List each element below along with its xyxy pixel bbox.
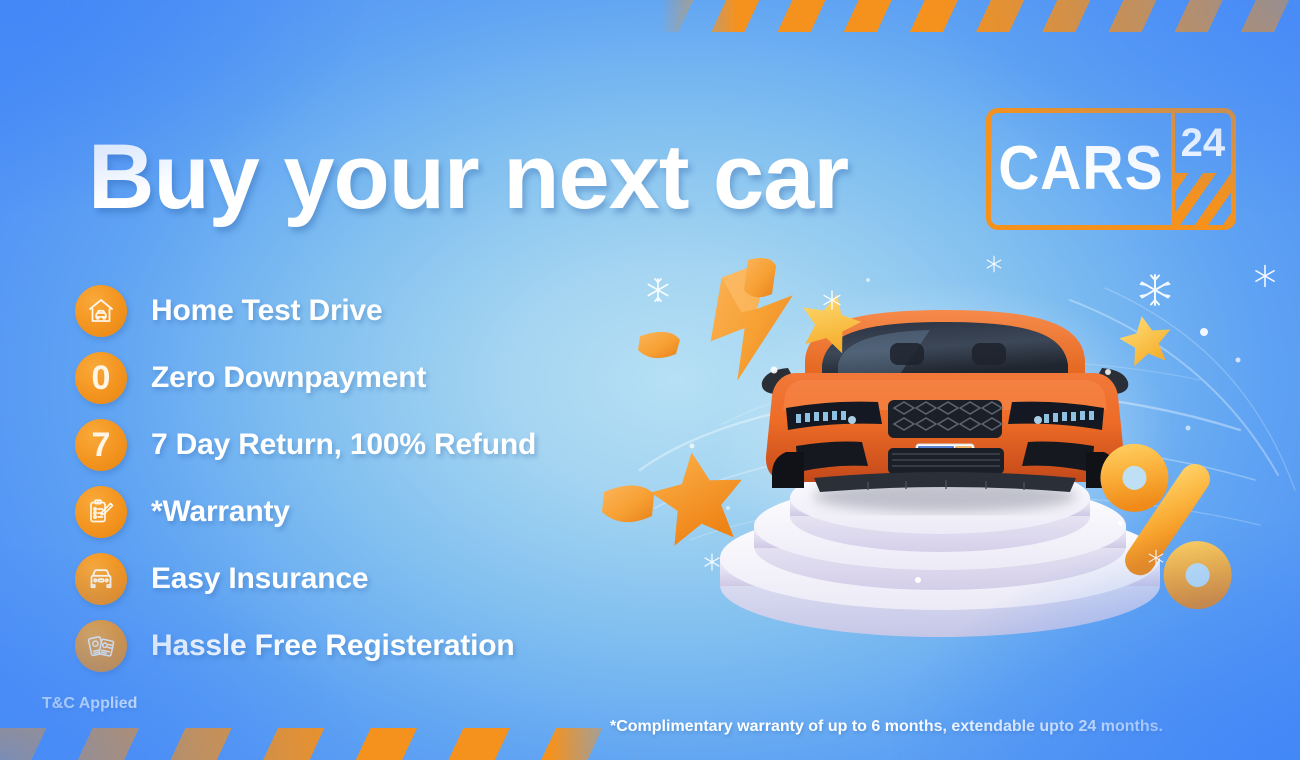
logo-sub-cell: 24 [1175,113,1231,225]
logo-stripes-icon [1175,173,1231,225]
page-title: Buy your next car [88,131,848,223]
logo-main-cell: CARS [991,113,1175,225]
terms-text: T&C Applied [42,695,137,713]
feature-label: Easy Insurance [151,562,368,596]
artwork-svg: CARS 24 [600,240,1300,670]
feature-label: 7 Day Return, 100% Refund [151,428,536,462]
feature-item-easy-insurance: Easy Insurance [75,545,536,612]
feature-label: *Warranty [151,495,290,529]
feature-list: Home Test Drive 0 Zero Downpayment 7 7 D… [75,277,536,679]
car-front-icon [75,553,127,605]
house-car-icon [75,285,127,337]
logo-wordmark: CARS [998,138,1163,200]
seven-icon: 7 [75,419,127,471]
feature-item-seven-day-return: 7 7 Day Return, 100% Refund [75,411,536,478]
hazard-stripes-top [660,0,1300,32]
feature-item-warranty: *Warranty [75,478,536,545]
cars24-logo: CARS 24 [986,108,1236,230]
feature-label: Hassle Free Registeration [151,629,514,663]
hazard-stripes-bottom [0,728,640,760]
feature-item-home-test-drive: Home Test Drive [75,277,536,344]
clipboard-pen-icon [75,486,127,538]
feature-label: Home Test Drive [151,294,383,328]
disclaimer-text: *Complimentary warranty of up to 6 month… [610,718,1163,736]
advertisement-banner: CARS 24 [0,0,1300,760]
feature-label: Zero Downpayment [151,361,426,395]
feature-item-zero-downpayment: 0 Zero Downpayment [75,344,536,411]
zero-icon: 0 [75,352,127,404]
hero-artwork: CARS 24 [600,240,1300,670]
feature-item-registration: Hassle Free Registeration [75,612,536,679]
seven-badge: 7 [92,428,111,462]
logo-number: 24 [1175,123,1231,163]
orange-chunk-icon-3 [602,485,654,522]
documents-icon [75,620,127,672]
zero-badge: 0 [92,361,111,395]
